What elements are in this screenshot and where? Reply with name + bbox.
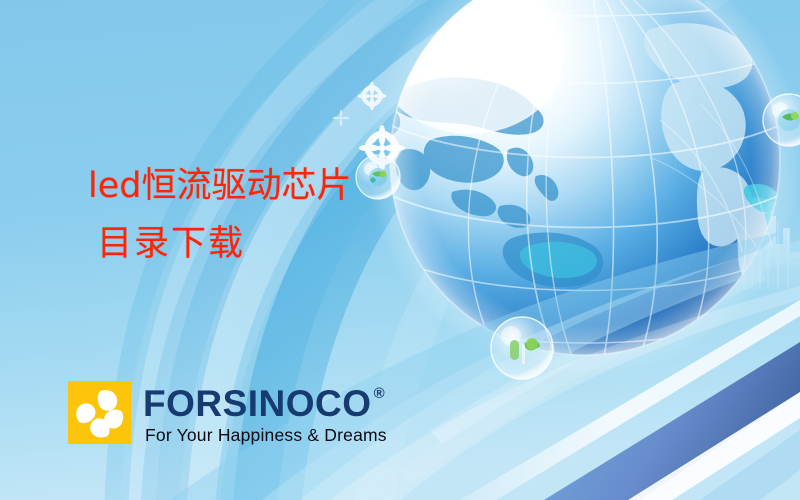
bubble-with-globe — [356, 155, 400, 199]
logo-text-block: FORSINOCO ® For Your Happiness & Dreams — [143, 381, 387, 445]
wordmark-text: FORSINOCO — [143, 385, 372, 422]
promo-banner: led恒流驱动芯片 目录下载 FORSINOCO ® — [0, 0, 800, 500]
registered-trademark-icon: ® — [374, 386, 386, 401]
bubble-with-plant — [491, 317, 553, 379]
four-petal-pinwheel-mark — [68, 381, 131, 444]
company-logo[interactable]: FORSINOCO ® For Your Happiness & Dreams — [68, 381, 387, 445]
logo-tagline: For Your Happiness & Dreams — [145, 425, 387, 445]
wordmark: FORSINOCO ® — [143, 385, 387, 422]
